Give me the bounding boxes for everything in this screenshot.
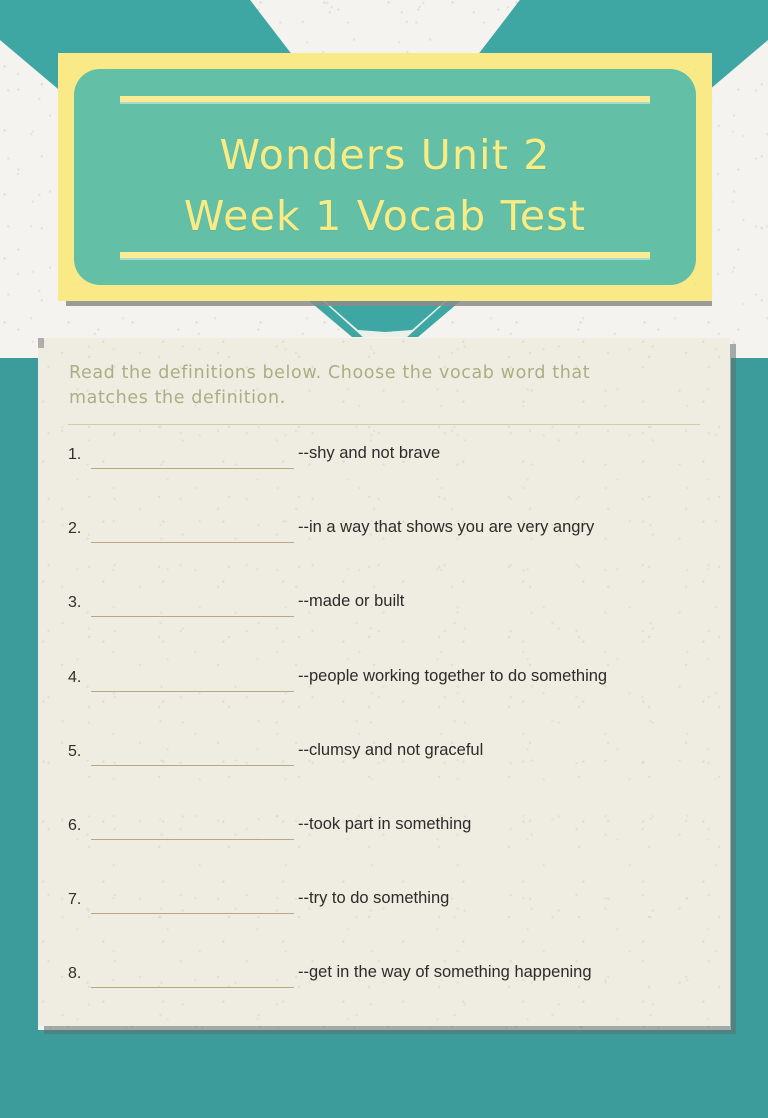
sheet-corner-shadow	[38, 338, 44, 348]
question-row: 6. --took part in something	[38, 805, 730, 879]
instructions-divider	[68, 424, 700, 425]
answer-blank-input[interactable]	[91, 987, 294, 988]
worksheet-sheet: Read the definitions below. Choose the v…	[38, 338, 730, 1026]
corner-notch-bottom-left-icon	[74, 259, 100, 285]
question-number: 7.	[68, 891, 81, 909]
question-row: 7. --try to do something	[38, 879, 730, 953]
answer-blank-input[interactable]	[91, 691, 294, 692]
teal-sidebar-left	[0, 358, 38, 1118]
corner-notch-top-right-icon	[670, 69, 696, 95]
title-banner-panel: Wonders Unit 2 Week 1 Vocab Test	[74, 69, 696, 285]
corner-notch-top-left-icon	[74, 69, 100, 95]
answer-blank-input[interactable]	[91, 542, 294, 543]
instructions-text: Read the definitions below. Choose the v…	[69, 361, 669, 412]
title-line-1: Wonders Unit 2	[219, 131, 550, 179]
worksheet-page: Wonders Unit 2 Week 1 Vocab Test Read th…	[0, 0, 768, 1118]
question-row: 1. --shy and not brave	[38, 434, 730, 508]
question-definition: --took part in something	[298, 815, 471, 834]
question-number: 6.	[68, 817, 81, 835]
answer-blank-input[interactable]	[91, 616, 294, 617]
question-number: 5.	[68, 743, 81, 761]
question-definition: --people working together to do somethin…	[298, 667, 607, 686]
question-row: 2. --in a way that shows you are very an…	[38, 508, 730, 582]
question-row: 8. --get in the way of something happeni…	[38, 953, 730, 1026]
question-definition: --shy and not brave	[298, 444, 440, 463]
banner-rule-top	[120, 96, 650, 102]
question-row: 5. --clumsy and not graceful	[38, 731, 730, 805]
question-number: 1.	[68, 446, 81, 464]
question-definition: --try to do something	[298, 889, 449, 908]
question-definition: --clumsy and not graceful	[298, 741, 483, 760]
banner-rule-bottom	[120, 252, 650, 258]
question-row: 3. --made or built	[38, 582, 730, 656]
title-line-2: Week 1 Vocab Test	[74, 186, 696, 247]
question-number: 8.	[68, 965, 81, 983]
question-definition: --get in the way of something happening	[298, 963, 592, 982]
question-list: 1. --shy and not brave 2. --in a way tha…	[38, 434, 730, 1026]
question-number: 2.	[68, 520, 81, 538]
teal-footer-band	[0, 1030, 768, 1118]
question-number: 4.	[68, 669, 81, 687]
corner-notch-bottom-right-icon	[670, 259, 696, 285]
teal-sidebar-right	[731, 358, 768, 1118]
question-row: 4. --people working together to do somet…	[38, 657, 730, 731]
page-title: Wonders Unit 2 Week 1 Vocab Test	[74, 125, 696, 246]
question-number: 3.	[68, 594, 81, 612]
question-definition: --made or built	[298, 592, 404, 611]
answer-blank-input[interactable]	[91, 913, 294, 914]
answer-blank-input[interactable]	[91, 839, 294, 840]
answer-blank-input[interactable]	[91, 468, 294, 469]
question-definition: --in a way that shows you are very angry	[298, 518, 594, 537]
title-banner: Wonders Unit 2 Week 1 Vocab Test	[58, 53, 712, 301]
answer-blank-input[interactable]	[91, 765, 294, 766]
